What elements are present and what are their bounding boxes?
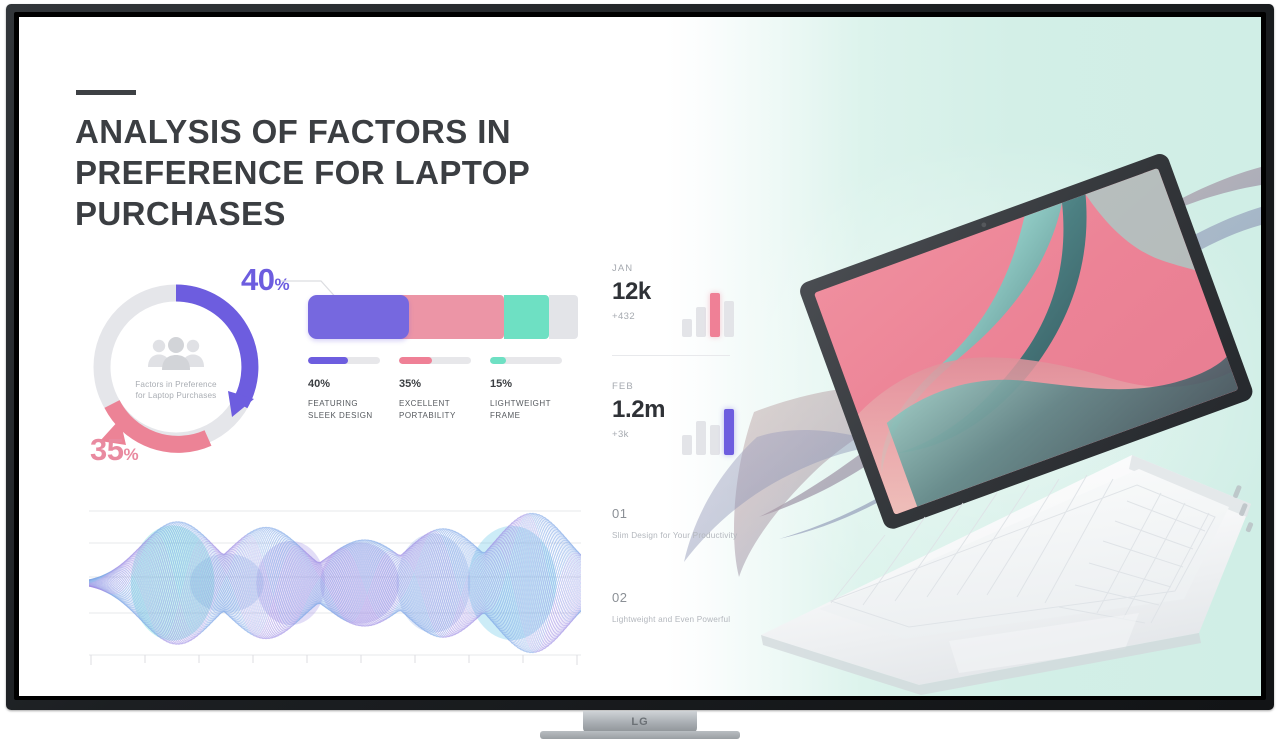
stat-bar bbox=[696, 421, 706, 455]
donut-center-content: Factors in Preference for Laptop Purchas… bbox=[118, 317, 234, 421]
presentation-slide: ANALYSIS OF FACTORS IN PREFERENCE FOR LA… bbox=[19, 17, 1261, 696]
legend-description-line1: FEATURING bbox=[308, 398, 399, 410]
legend-description: FEATURING SLEEK DESIGN bbox=[308, 398, 399, 421]
stat-label: JAN bbox=[612, 263, 734, 274]
list-item-number: 01 bbox=[612, 506, 742, 521]
legend-description: LIGHTWEIGHT FRAME bbox=[490, 398, 581, 421]
brand-logo: LG bbox=[612, 716, 668, 729]
stat-sparkbars bbox=[682, 289, 734, 337]
waveform-chart bbox=[89, 503, 581, 678]
page-title-line1: ANALYSIS OF FACTORS IN bbox=[75, 113, 511, 150]
stat-bar bbox=[682, 319, 692, 337]
stacked-bar-segment-remainder bbox=[549, 295, 578, 339]
waveform-chart-svg bbox=[89, 503, 581, 678]
monitor-stand-base bbox=[540, 731, 740, 739]
legend-description-line1: LIGHTWEIGHT bbox=[490, 398, 581, 410]
stat-bar bbox=[724, 301, 734, 337]
waveform-lines bbox=[89, 513, 581, 653]
legend-progress-track bbox=[399, 357, 471, 364]
legend-progress-track bbox=[490, 357, 562, 364]
list-item-text: Lightweight and Even Powerful bbox=[612, 614, 742, 626]
stacked-bar-segment-sleek-design bbox=[308, 295, 409, 339]
legend-list: 40% FEATURING SLEEK DESIGN 35% EXCELLENT… bbox=[308, 357, 582, 421]
donut-caption-line1: Factors in Preference bbox=[135, 379, 216, 391]
legend-item-sleek-design: 40% FEATURING SLEEK DESIGN bbox=[308, 357, 399, 421]
list-item-text: Slim Design for Your Productivity bbox=[612, 530, 742, 542]
stacked-bar-segment-portability bbox=[400, 295, 503, 339]
stat-bar-highlight bbox=[724, 409, 734, 455]
waveform-axis bbox=[89, 655, 581, 665]
donut-label-primary-value: 40 bbox=[241, 262, 274, 297]
monitor-device: ANALYSIS OF FACTORS IN PREFERENCE FOR LA… bbox=[0, 0, 1280, 739]
legend-description-line2: PORTABILITY bbox=[399, 410, 490, 422]
stats-column: JAN 12k +432 FEB 1.2m +3k bbox=[612, 263, 734, 473]
stacked-bar-chart bbox=[308, 295, 578, 339]
stat-bar bbox=[696, 307, 706, 337]
legend-percent: 40% bbox=[308, 378, 399, 390]
title-accent-rule bbox=[76, 90, 136, 95]
donut-label-secondary-pct: % bbox=[123, 445, 138, 464]
donut-label-secondary: 35% bbox=[90, 432, 138, 468]
legend-description-line2: SLEEK DESIGN bbox=[308, 410, 399, 422]
stacked-bar-segment-lightweight bbox=[504, 295, 549, 339]
list-item-number: 02 bbox=[612, 590, 742, 605]
numbered-list: 01 Slim Design for Your Productivity 02 … bbox=[612, 506, 742, 674]
numbered-list-item-02: 02 Lightweight and Even Powerful bbox=[612, 590, 742, 626]
stat-bar bbox=[710, 425, 720, 455]
people-group-icon bbox=[144, 337, 208, 371]
legend-item-lightweight: 15% LIGHTWEIGHT FRAME bbox=[490, 357, 581, 421]
legend-description: EXCELLENT PORTABILITY bbox=[399, 398, 490, 421]
legend-percent: 35% bbox=[399, 378, 490, 390]
donut-caption-line2: for Laptop Purchases bbox=[135, 390, 216, 402]
monitor-screen: ANALYSIS OF FACTORS IN PREFERENCE FOR LA… bbox=[19, 17, 1261, 696]
page-title: ANALYSIS OF FACTORS IN PREFERENCE FOR LA… bbox=[75, 111, 715, 234]
donut-label-secondary-value: 35 bbox=[90, 432, 123, 467]
stat-card-feb: FEB 1.2m +3k bbox=[612, 381, 734, 473]
legend-progress-fill bbox=[490, 357, 506, 364]
stats-divider bbox=[612, 355, 730, 356]
waveform-axis-ticks bbox=[91, 655, 577, 665]
legend-progress-fill bbox=[308, 357, 348, 364]
legend-description-line2: FRAME bbox=[490, 410, 581, 422]
legend-progress-track bbox=[308, 357, 380, 364]
stat-label: FEB bbox=[612, 381, 734, 392]
legend-item-portability: 35% EXCELLENT PORTABILITY bbox=[399, 357, 490, 421]
page-title-line2: PREFERENCE FOR LAPTOP PURCHASES bbox=[75, 152, 715, 234]
legend-percent: 15% bbox=[490, 378, 581, 390]
legend-description-line1: EXCELLENT bbox=[399, 398, 490, 410]
stat-card-jan: JAN 12k +432 bbox=[612, 263, 734, 355]
donut-center-caption: Factors in Preference for Laptop Purchas… bbox=[135, 379, 216, 402]
stat-sparkbars bbox=[682, 407, 734, 455]
legend-progress-fill bbox=[399, 357, 432, 364]
stat-bar-highlight bbox=[710, 293, 720, 337]
numbered-list-item-01: 01 Slim Design for Your Productivity bbox=[612, 506, 742, 542]
stat-bar bbox=[682, 435, 692, 455]
